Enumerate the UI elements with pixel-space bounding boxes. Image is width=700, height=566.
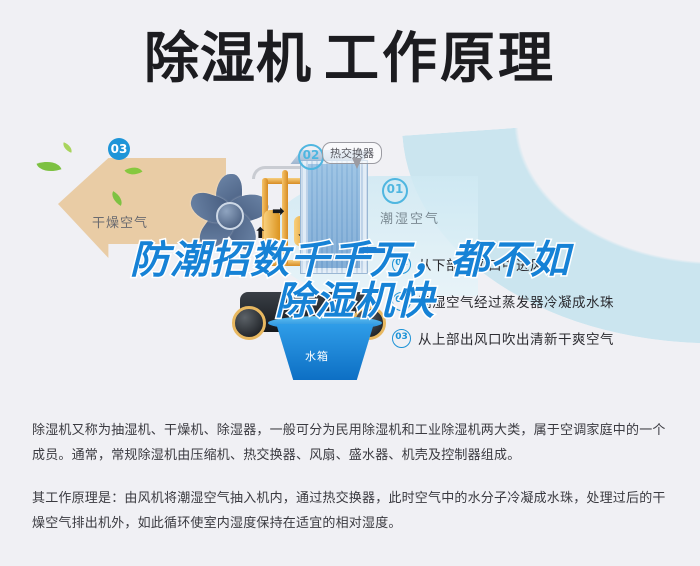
description-paragraph-1: 除湿机又称为抽湿机、干燥机、除湿器，一般可分为民用除湿机和工业除湿机两大类，属于… (32, 418, 672, 468)
badge-03: 03 (108, 138, 130, 160)
description-text: 除湿机又称为抽湿机、干燥机、除湿器，一般可分为民用除湿机和工业除湿机两大类，属于… (32, 418, 672, 536)
step-badge: 01 (392, 255, 411, 274)
description-paragraph-2: 其工作原理是：由风机将潮湿空气抽入机内，通过热交换器，此时空气中的水分子冷凝成水… (32, 486, 672, 536)
page-title-part2: 工作原理 (324, 26, 556, 90)
moist-air-label: 潮湿空气 (380, 208, 440, 227)
step-badge: 02 (392, 292, 411, 311)
list-item: 03 从上部出风口吹出清新干爽空气 (392, 328, 692, 348)
flow-arrow-right-icon: ➡ (272, 204, 285, 219)
step-text: 从上部出风口吹出清新干爽空气 (418, 328, 614, 348)
wheel-icon (232, 306, 266, 340)
badge-01: 01 (382, 178, 408, 204)
page-title: 除湿机工作原理 (0, 26, 700, 90)
dry-air-label: 干燥空气 (92, 212, 148, 231)
fan-hub (216, 202, 244, 230)
leaf-icon (61, 142, 74, 153)
list-item: 02 潮湿空气经过蒸发器冷凝成水珠 (392, 291, 692, 311)
air-intake-arrow-tail (363, 247, 385, 253)
infographic-page: 除湿机工作原理 干燥空气 ➡ (0, 0, 700, 566)
water-tank-label: 水箱 (305, 348, 329, 364)
step-list: 01 从下部进风口中进风 02 潮湿空气经过蒸发器冷凝成水珠 03 从上部出风口… (392, 254, 692, 365)
flow-arrow-up-icon: ⬆ (254, 226, 267, 241)
step-text: 从下部进风口中进风 (418, 254, 544, 274)
step-badge: 03 (392, 329, 411, 348)
badge-02: 02 (298, 144, 324, 170)
page-title-part1: 除湿机 (144, 26, 312, 90)
list-item: 01 从下部进风口中进风 (392, 254, 692, 274)
leaf-icon (37, 157, 62, 176)
dehumidifier-diagram: 干燥空气 ➡ ⬆ ⬇ (0, 116, 700, 408)
heat-exchanger-callout-tail (352, 158, 362, 169)
step-text: 潮湿空气经过蒸发器冷凝成水珠 (418, 291, 614, 311)
